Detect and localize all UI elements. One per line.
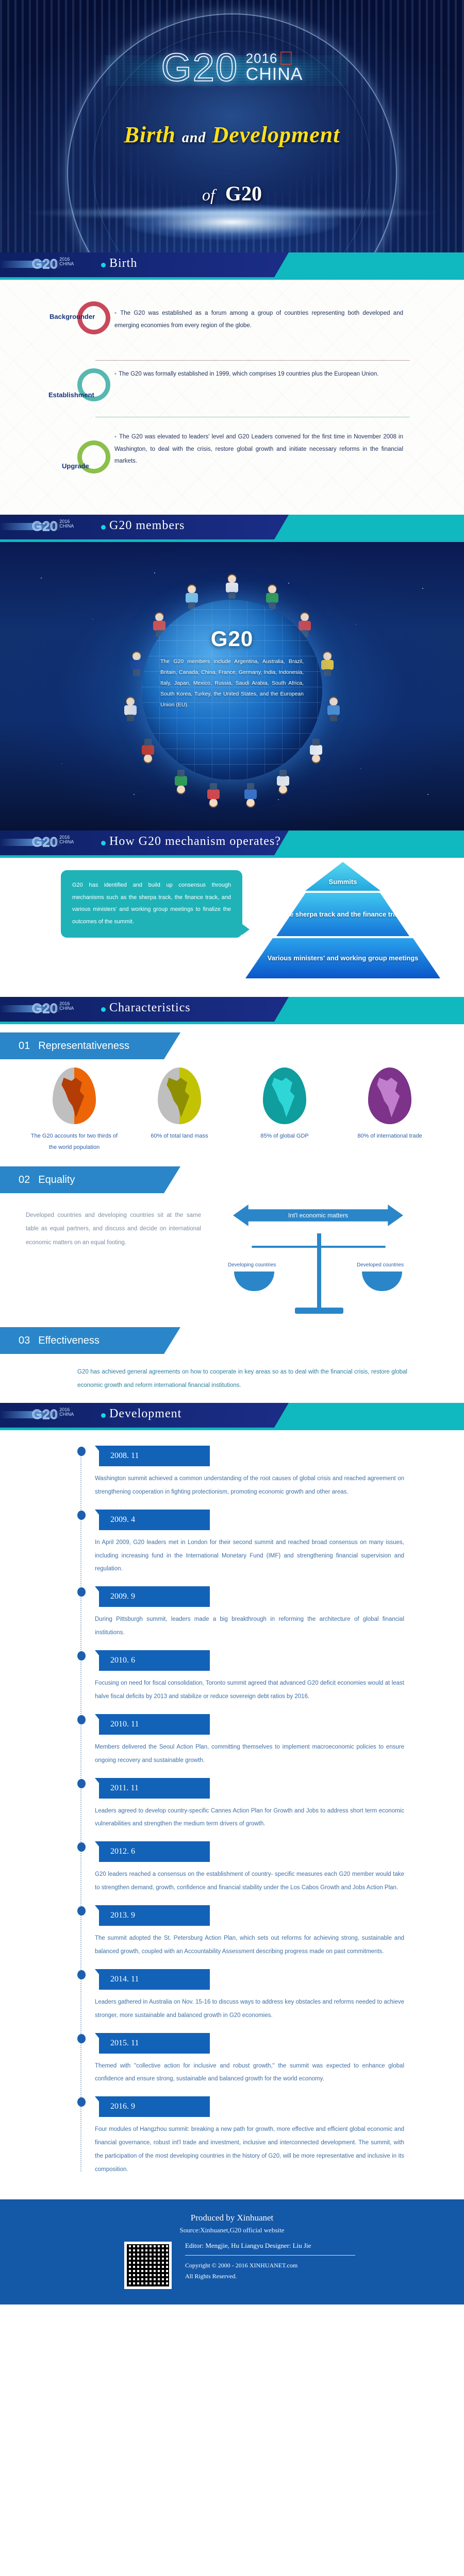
timeline: 2008. 11 Washington summit achieved a co… <box>77 1446 407 2177</box>
backgrounder-text: ▪The G20 was established as a forum amon… <box>114 308 403 332</box>
balance-scale-diagram: Int'l economic matters Developing countr… <box>222 1201 418 1320</box>
characteristics-section: 01 Representativeness The G20 accounts f… <box>0 1024 464 1403</box>
timeline-dot-icon <box>77 1651 86 1660</box>
footer-produced-by: Produced by Xinhuanet <box>0 2213 464 2223</box>
banner-logo-country: CHINA <box>59 261 74 266</box>
section-banner-development: G202016CHINA Development <box>0 1403 464 1428</box>
section-title-mechanism: How G20 mechanism operates? <box>109 835 281 849</box>
timeline-date: 2011. 11 <box>99 1778 210 1799</box>
timeline-dot-icon <box>77 1715 86 1724</box>
stat-cell-land: 60% of total land mass <box>133 1067 226 1142</box>
section-title-characteristics: Characteristics <box>109 1001 191 1015</box>
arrow-label: Int'l economic matters <box>288 1212 348 1219</box>
timeline-item: 2015. 11 Themed with "collective action … <box>95 2033 407 2087</box>
person-figure <box>206 783 221 807</box>
timeline-dot-icon <box>77 1906 86 1916</box>
stat-caption-trade: 80% of international trade <box>343 1130 436 1142</box>
banner-logo-side: 2016CHINA <box>59 257 74 267</box>
bullet-square-icon: ▪ <box>114 434 117 440</box>
globe-content: G20 The G20 members include Argentina, A… <box>142 600 322 780</box>
birth-item-establishment: Establishment ▪The G20 was formally esta… <box>0 365 464 425</box>
timeline-item: 2011. 11 Leaders agreed to develop count… <box>95 1778 407 1832</box>
banner-bullet-icon <box>101 1007 106 1012</box>
footer-rights: All Rights Reserved. <box>185 2273 355 2280</box>
birth-section: Backgrounder ▪The G20 was established as… <box>0 280 464 515</box>
banner-logo-g20: G20 <box>32 1408 58 1422</box>
footer-divider <box>185 2255 355 2256</box>
timeline-body: G20 leaders reached a consensus on the e… <box>95 1868 407 1895</box>
banner-logo-g20: G20 <box>32 519 58 534</box>
banner-bullet-icon <box>101 841 106 845</box>
timeline-item: 2016. 9 Four modules of Hangzhou summit:… <box>95 2096 407 2177</box>
footer-content: Editor: Mengjie, Hu Liangyu Designer: Li… <box>0 2242 464 2289</box>
infographic-page: G20 2016 CHINA Birth and Development of … <box>0 0 464 2304</box>
section-banner-mechanism: G202016CHINA How G20 mechanism operates? <box>0 831 464 855</box>
stat-cell-gdp: 85% of global GDP <box>238 1067 331 1142</box>
timeline-date: 2014. 11 <box>99 1969 210 1990</box>
banner-logo-side: 2016CHINA <box>59 835 74 845</box>
timeline-dot-icon <box>77 1970 86 1979</box>
timeline-body: Leaders agreed to develop country-specif… <box>95 1805 407 1832</box>
timeline-body: During Pittsburgh summit, leaders made a… <box>95 1613 407 1640</box>
banner-logo-side: 2016CHINA <box>59 519 74 529</box>
birth-item-backgrounder: Backgrounder ▪The G20 was established as… <box>0 294 464 365</box>
development-section: 2008. 11 Washington summit achieved a co… <box>0 1430 464 2199</box>
scale-label-developing: Developing countries <box>228 1262 276 1268</box>
timeline-item: 2010. 6 Focusing on need for fiscal cons… <box>95 1650 407 1704</box>
timeline-body: Members delivered the Seoul Action Plan,… <box>95 1741 407 1768</box>
timeline-date: 2013. 9 <box>99 1905 210 1926</box>
banner-mini-logo: G202016CHINA <box>32 257 74 272</box>
page-title-birth: Birth <box>124 122 175 147</box>
hero-glow-decoration <box>124 204 340 240</box>
timeline-date: 2015. 11 <box>99 2033 210 2054</box>
timeline-dot-icon <box>77 1842 86 1852</box>
timeline-body: Four modules of Hangzhou summit: breakin… <box>95 2123 407 2177</box>
person-figure <box>326 698 341 721</box>
globe-chart-gdp-icon <box>263 1067 306 1124</box>
timeline-body: Washington summit achieved a common unde… <box>95 1472 407 1499</box>
equality-row: Developed countries and developing count… <box>0 1193 464 1320</box>
birth-item-upgrade: Upgrade ▪The G20 was elevated to leaders… <box>0 425 464 502</box>
timeline-date: 2008. 11 <box>99 1446 210 1466</box>
characteristic-number-01: 01 <box>19 1040 30 1052</box>
stat-caption-land: 60% of total land mass <box>133 1130 226 1142</box>
characteristic-number-03: 03 <box>19 1335 30 1347</box>
upgrade-body: The G20 was elevated to leaders' level a… <box>114 434 403 464</box>
scale-post <box>317 1233 321 1311</box>
page-title-development: Development <box>212 122 340 147</box>
upgrade-label: Upgrade <box>62 462 89 470</box>
section-banner-birth: G202016CHINA Birth <box>0 252 464 277</box>
establishment-text: ▪The G20 was formally established in 199… <box>114 368 403 381</box>
characteristic-header-equality: 02 Equality <box>0 1166 180 1193</box>
stat-cell-population: The G20 accounts for two thirds of the w… <box>28 1067 121 1153</box>
timeline-date: 2010. 6 <box>99 1650 210 1671</box>
banner-logo-country: CHINA <box>59 1006 74 1011</box>
timeline-date: 2012. 6 <box>99 1841 210 1862</box>
page-title-g20: G20 <box>225 182 262 205</box>
banner-mini-logo: G202016CHINA <box>32 1002 74 1016</box>
upgrade-text: ▪The G20 was elevated to leaders' level … <box>114 431 403 468</box>
timeline-dot-icon <box>77 2034 86 2043</box>
pyramid-tier-meetings: Various ministers' and working group mee… <box>245 938 440 978</box>
person-figure <box>224 575 240 599</box>
characteristic-label-03: Effectiveness <box>38 1335 100 1347</box>
banner-logo-g20: G20 <box>32 835 58 850</box>
section-banner-characteristics: G202016CHINA Characteristics <box>0 997 464 1022</box>
footer-source: Source:Xinhuanet,G20 official website <box>0 2226 464 2234</box>
timeline-date: 2010. 11 <box>99 1714 210 1735</box>
backgrounder-label: Backgrounder <box>49 313 95 320</box>
birth-separator-1 <box>95 360 410 361</box>
pyramid-tier-summits: Summits <box>305 862 380 891</box>
characteristic-header-effectiveness: 03 Effectiveness <box>0 1327 180 1354</box>
banner-logo-country: CHINA <box>59 839 74 844</box>
stat-caption-population: The G20 accounts for two thirds of the w… <box>28 1130 121 1153</box>
chinese-seal-icon <box>280 52 292 65</box>
banner-bullet-icon <box>101 263 106 267</box>
banner-bullet-icon <box>101 1413 106 1418</box>
timeline-item: 2013. 9 The summit adopted the St. Peter… <box>95 1905 407 1959</box>
timeline-dot-icon <box>77 1447 86 1456</box>
person-figure <box>123 698 138 721</box>
person-figure <box>243 783 258 807</box>
hero-banner: G20 2016 CHINA Birth and Development of … <box>0 0 464 252</box>
banner-mini-logo: G202016CHINA <box>32 835 74 850</box>
timeline-date: 2009. 9 <box>99 1586 210 1607</box>
g20-logo: G20 2016 CHINA <box>0 45 464 90</box>
logo-year: 2016 <box>246 50 278 66</box>
timeline-item: 2010. 11 Members delivered the Seoul Act… <box>95 1714 407 1768</box>
members-section: G20 The G20 members include Argentina, A… <box>0 542 464 831</box>
banner-mini-logo: G202016CHINA <box>32 1408 74 1422</box>
timeline-body: In April 2009, G20 leaders met in London… <box>95 1536 407 1577</box>
mechanism-section: G20 has identified and build up consensu… <box>0 858 464 997</box>
timeline-body: Focusing on need for fiscal consolidatio… <box>95 1677 407 1704</box>
timeline-body: The summit adopted the St. Petersburg Ac… <box>95 1932 407 1959</box>
section-title-development: Development <box>109 1407 181 1421</box>
timeline-item: 2008. 11 Washington summit achieved a co… <box>95 1446 407 1499</box>
int-economic-matters-arrow: Int'l economic matters <box>233 1205 403 1226</box>
timeline-date: 2009. 4 <box>99 1510 210 1530</box>
footer-credits: Editor: Mengjie, Hu Liangyu Designer: Li… <box>185 2242 355 2280</box>
backgrounder-body: The G20 was established as a forum among… <box>114 310 403 329</box>
birth-separator-2 <box>95 417 410 417</box>
scale-label-developed: Developed countries <box>357 1262 404 1268</box>
page-title-line1: Birth and Development <box>0 122 464 148</box>
pyramid-tier-tracks: The sherpa track and the finance track <box>276 893 409 936</box>
timeline-date: 2016. 9 <box>99 2096 210 2117</box>
banner-mini-logo: G202016CHINA <box>32 519 74 534</box>
scale-pan-right <box>362 1272 402 1291</box>
banner-logo-country: CHINA <box>59 523 74 529</box>
effectiveness-text: G20 has achieved general agreements on h… <box>0 1354 464 1393</box>
banner-logo-g20: G20 <box>32 257 58 272</box>
logo-country: CHINA <box>246 65 303 84</box>
representativeness-stats: The G20 accounts for two thirds of the w… <box>0 1059 464 1153</box>
equality-text: Developed countries and developing count… <box>0 1199 222 1249</box>
logo-g20-text: G20 <box>161 45 239 90</box>
section-title-birth: Birth <box>109 257 137 270</box>
timeline-dot-icon <box>77 1779 86 1788</box>
globe-chart-trade-icon <box>368 1067 411 1124</box>
section-title-members: G20 members <box>109 519 185 533</box>
establishment-body: The G20 was formally established in 1999… <box>119 371 378 377</box>
timeline-body: Leaders gathered in Australia on Nov. 15… <box>95 1996 407 2023</box>
banner-logo-country: CHINA <box>59 1412 74 1417</box>
globe-title: G20 <box>211 626 253 651</box>
characteristic-label-01: Representativeness <box>38 1040 129 1052</box>
characteristic-header-representativeness: 01 Representativeness <box>0 1032 180 1059</box>
timeline-dot-icon <box>77 1511 86 1520</box>
banner-logo-side: 2016CHINA <box>59 1408 74 1417</box>
scale-pan-left <box>234 1272 274 1291</box>
scale-base <box>295 1308 343 1314</box>
page-footer: Produced by Xinhuanet Source:Xinhuanet,G… <box>0 2199 464 2304</box>
page-title-line2: of G20 <box>0 181 464 206</box>
qr-code-icon[interactable] <box>124 2242 172 2289</box>
timeline-item: 2009. 4 In April 2009, G20 leaders met i… <box>95 1510 407 1577</box>
banner-logo-g20: G20 <box>32 1002 58 1016</box>
timeline-dot-icon <box>77 1587 86 1597</box>
stat-caption-gdp: 85% of global GDP <box>238 1130 331 1142</box>
banner-bullet-icon <box>101 525 106 530</box>
bullet-square-icon: ▪ <box>114 371 117 377</box>
timeline-body: Themed with "collective action for inclu… <box>95 2060 407 2087</box>
timeline-item: 2012. 6 G20 leaders reached a consensus … <box>95 1841 407 1895</box>
logo-side-text: 2016 CHINA <box>246 52 303 84</box>
footer-copyright: Copyright © 2000 - 2016 XINHUANET.com <box>185 2262 355 2269</box>
stat-cell-trade: 80% of international trade <box>343 1067 436 1142</box>
timeline-dot-icon <box>77 2097 86 2107</box>
globe-chart-land-icon <box>158 1067 201 1124</box>
page-title-of: of <box>202 185 215 204</box>
characteristic-label-02: Equality <box>38 1174 75 1186</box>
mechanism-pyramid-diagram: Summits The sherpa track and the finance… <box>242 862 443 980</box>
timeline-item: 2009. 9 During Pittsburgh summit, leader… <box>95 1586 407 1640</box>
members-list-text: The G20 members include Argentina, Austr… <box>160 656 304 710</box>
globe-chart-population-icon <box>53 1067 96 1124</box>
characteristic-number-02: 02 <box>19 1174 30 1186</box>
mechanism-callout-bubble: G20 has identified and build up consensu… <box>61 870 242 938</box>
timeline-item: 2014. 11 Leaders gathered in Australia o… <box>95 1969 407 2023</box>
page-title-and: and <box>182 130 206 146</box>
establishment-label: Establishment <box>48 391 94 399</box>
banner-logo-side: 2016CHINA <box>59 1002 74 1011</box>
bullet-square-icon: ▪ <box>114 310 118 316</box>
section-banner-members: G202016CHINA G20 members <box>0 515 464 539</box>
footer-editor: Editor: Mengjie, Hu Liangyu Designer: Li… <box>185 2242 355 2250</box>
